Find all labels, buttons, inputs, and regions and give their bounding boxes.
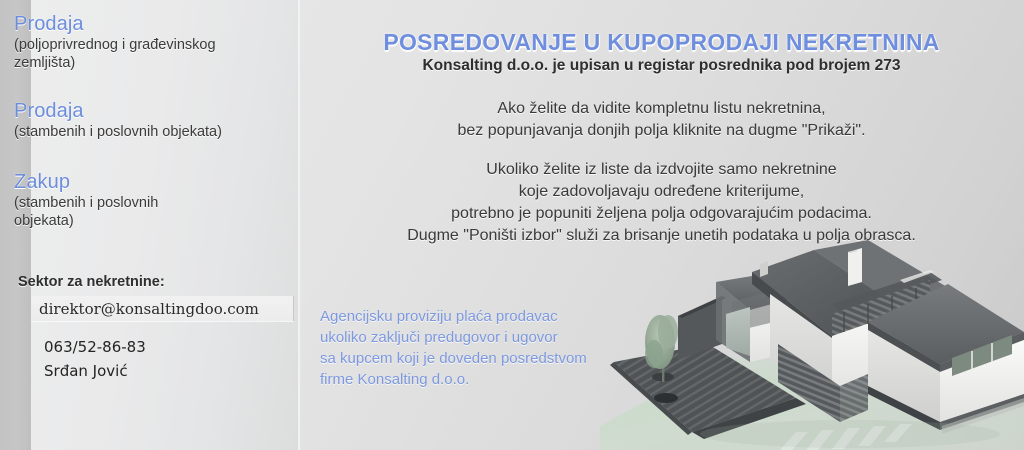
email-value: direktor@konsaltingdoo.com (39, 300, 259, 318)
sidebar-item-subtitle-line1: (stambenih i poslovnih (14, 195, 264, 213)
intro-line: bez popunjavanja donjih polja kliknite n… (299, 120, 1024, 142)
tree (645, 315, 678, 382)
contact-phone: 063/52-86-83 (44, 338, 146, 356)
intro-line: Ako želite da vidite kompletnu listu nek… (299, 98, 1024, 120)
sidebar-item-subtitle-line2: objekata) (14, 213, 264, 231)
instructions-paragraph: Ukoliko želite iz liste da izdvojite sam… (299, 159, 1024, 247)
sidebar-item-subtitle-line1: (stambenih i poslovnih objekata) (14, 124, 264, 142)
page-subtitle: Konsalting d.o.o. je upisan u registar p… (299, 57, 1024, 75)
page-title: POSREDOVANJE U KUPOPRODAJI NEKRETNINA (299, 29, 1024, 56)
instructions-line: Dugme "Poništi izbor" služi za brisanje … (299, 225, 1024, 247)
sidebar-item-zakup[interactable]: Zakup (stambenih i poslovnih objekata) (14, 172, 264, 231)
sidebar-item-title[interactable]: Zakup (14, 172, 264, 194)
commission-note: Agencijsku proviziju plaća prodavac ukol… (320, 306, 587, 390)
contact-name: Srđan Jović (44, 362, 128, 380)
house-illustration (600, 236, 1024, 450)
page-root: Prodaja (poljoprivrednog i građevinskog … (0, 0, 1024, 450)
sidebar-item-prodaja-zemljista[interactable]: Prodaja (poljoprivrednog i građevinskog … (14, 14, 264, 73)
sidebar-item-title[interactable]: Prodaja (14, 101, 264, 123)
sidebar-item-prodaja-objekata[interactable]: Prodaja (stambenih i poslovnih objekata) (14, 101, 264, 142)
sidebar-item-subtitle-line2: zemljišta) (14, 55, 264, 73)
intro-paragraph: Ako želite da vidite kompletnu listu nek… (299, 98, 1024, 142)
sidebar-item-subtitle-line1: (poljoprivrednog i građevinskog (14, 37, 264, 55)
sector-label: Sektor za nekretnine: (18, 274, 165, 290)
instructions-line: koje zadovoljavaju određene kriterijume, (299, 181, 1024, 203)
instructions-line: potrebno je popuniti željena polja odgov… (299, 203, 1024, 225)
sidebar-item-title[interactable]: Prodaja (14, 14, 264, 36)
instructions-line: Ukoliko želite iz liste da izdvojite sam… (299, 159, 1024, 181)
commission-note-line: sa kupcem koji je doveden posredstvom (320, 348, 587, 369)
commission-note-line: ukoliko zaključi predugovor i ugovor (320, 327, 587, 348)
commission-note-line: Agencijsku proviziju plaća prodavac (320, 306, 587, 327)
commission-note-line: firme Konsalting d.o.o. (320, 369, 587, 390)
email-field[interactable]: direktor@konsaltingdoo.com (31, 296, 294, 321)
